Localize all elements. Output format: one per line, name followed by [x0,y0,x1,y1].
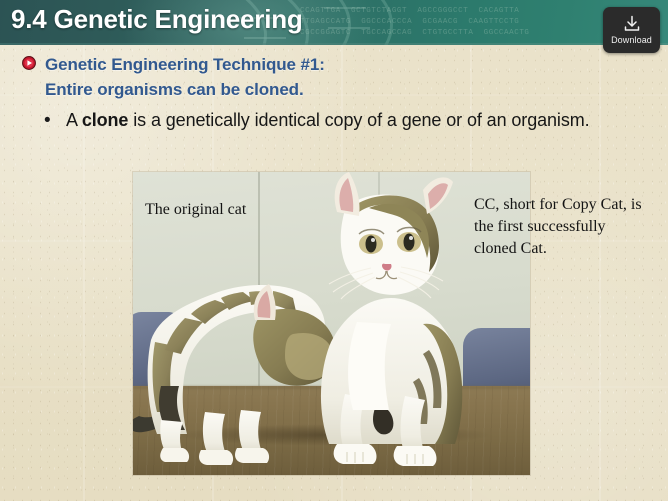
body-bold-keyword: clone [82,110,129,130]
body-paragraph: A clone is a genetically identical copy … [66,107,624,134]
heading-block: Genetic Engineering Technique #1: Entire… [22,52,622,102]
photo-caption-right: CC, short for Copy Cat, is the first suc… [474,194,646,260]
download-icon [622,15,642,33]
slide-container: CCAGTTGA GCTGTCTAGGT AGCCGGGCCT CACAGTTA… [0,0,668,501]
slide-header-band: CCAGTTGA GCTGTCTAGGT AGCCGGGCCT CACAGTTA… [0,0,668,45]
download-button-label: Download [611,35,652,45]
body-text-before-bold: A [66,110,82,130]
body-bullet-block: • A clone is a genetically identical cop… [44,107,624,134]
slide-title: 9.4 Genetic Engineering [11,4,303,35]
body-bullet-glyph: • [44,107,51,134]
cat-original-left [133,284,343,465]
photo-caption-left: The original cat [145,199,265,220]
heading-line-2: Entire organisms can be cloned. [45,77,622,102]
red-play-bullet-icon [22,56,36,70]
cat-clone-right [321,172,462,466]
body-text-after-bold: is a genetically identical copy of a gen… [128,110,589,130]
heading-line-1: Genetic Engineering Technique #1: [45,52,622,77]
header-bottom-rule [0,43,668,45]
download-button[interactable]: Download [603,7,660,53]
